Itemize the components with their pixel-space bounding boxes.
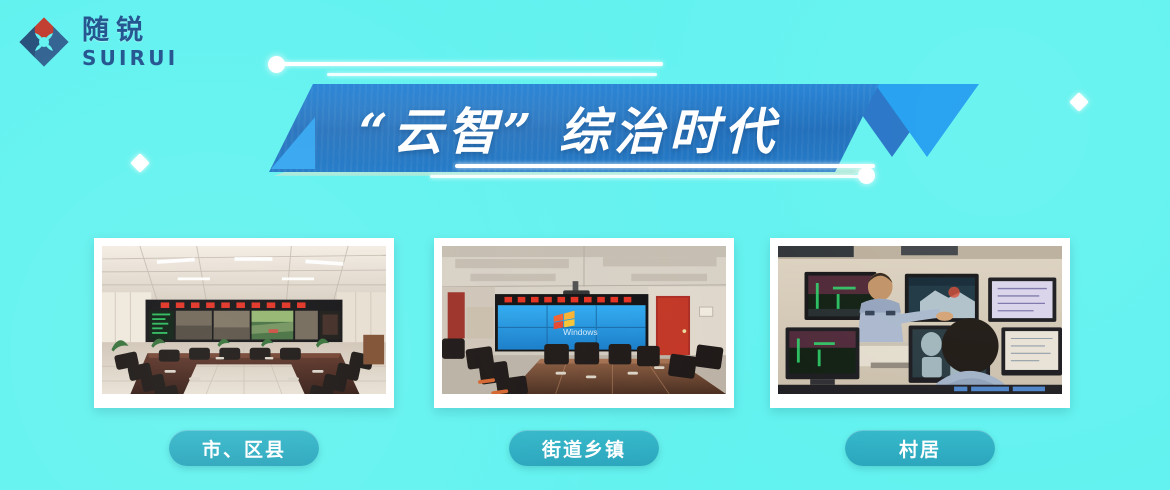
decor-line-icon <box>283 62 663 66</box>
decor-line-icon <box>327 73 657 76</box>
brand-logo: 随锐 SUIRUI <box>16 14 178 70</box>
card-label-village[interactable]: 村居 <box>845 430 995 466</box>
title-banner: “云智” 综治时代 <box>255 52 955 192</box>
card-village[interactable]: 村居 <box>770 238 1070 466</box>
brand-name-en: SUIRUI <box>82 48 178 68</box>
suirui-pinwheel-logo-icon <box>16 14 72 70</box>
card-row: 市、区县 <box>0 238 1170 486</box>
photo-frame <box>94 238 394 408</box>
street-township-meeting-room-photo: Windows <box>442 246 726 394</box>
slide-canvas: 随锐 SUIRUI “云智” 综治时代 <box>0 0 1170 490</box>
photo-frame <box>770 238 1070 408</box>
decor-diamond-icon <box>1069 92 1089 112</box>
svg-text:Windows: Windows <box>563 327 598 337</box>
page-title: “云智” 综治时代 <box>269 84 879 172</box>
village-monitoring-room-photo <box>778 246 1062 394</box>
card-street-township[interactable]: Windows <box>434 238 734 466</box>
card-label-street-township[interactable]: 街道乡镇 <box>509 430 659 466</box>
card-label-city-district[interactable]: 市、区县 <box>169 430 319 466</box>
decor-line-icon <box>430 175 860 178</box>
city-district-command-center-photo <box>102 246 386 394</box>
brand-name-cn: 随锐 <box>82 17 178 44</box>
decor-line-icon <box>455 164 875 168</box>
photo-frame: Windows <box>434 238 734 408</box>
banner-bar: “云智” 综治时代 <box>269 84 879 172</box>
decor-dot-icon <box>858 167 875 184</box>
decor-triangle-icon <box>875 84 979 157</box>
card-city-district[interactable]: 市、区县 <box>94 238 394 466</box>
decor-diamond-icon <box>130 153 150 173</box>
